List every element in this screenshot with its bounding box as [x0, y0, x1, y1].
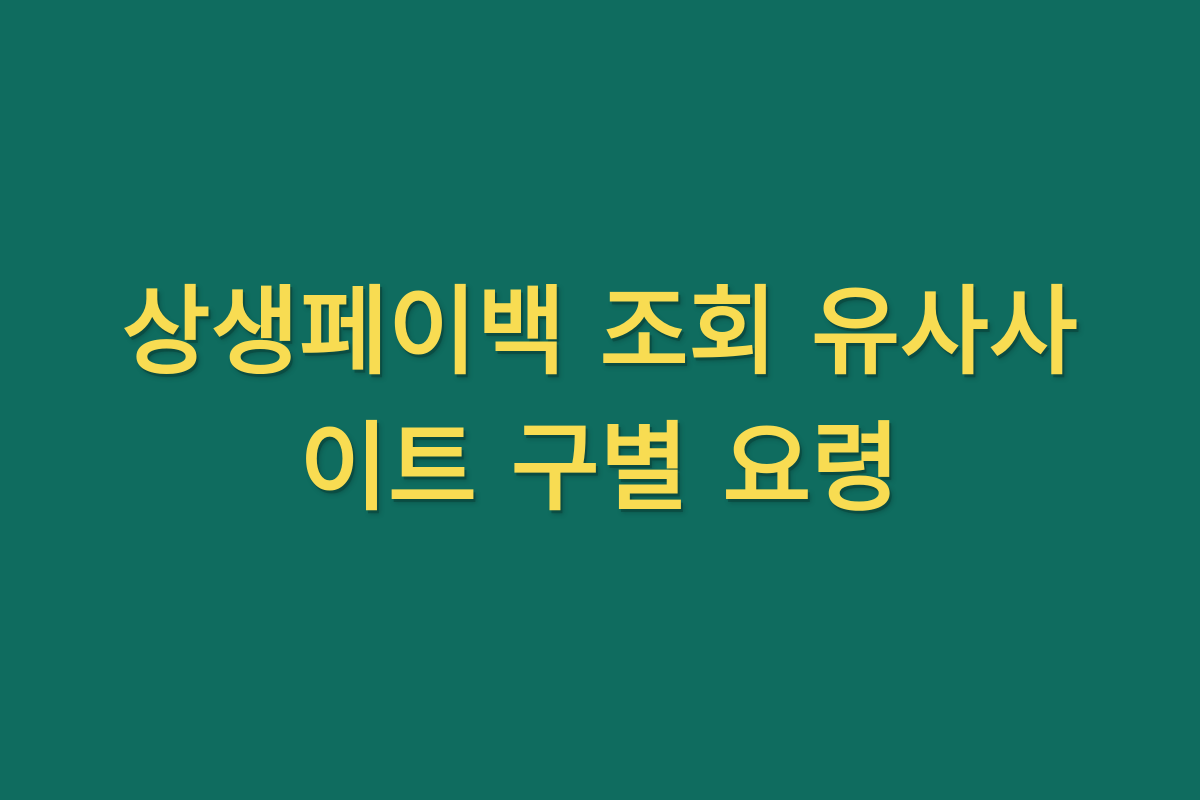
headline-line-2: 이트 구별 요령 — [80, 400, 1120, 536]
headline-line-1: 상생페이백 조회 유사사 — [80, 264, 1120, 400]
banner-canvas: 상생페이백 조회 유사사 이트 구별 요령 — [0, 0, 1200, 800]
banner-headline: 상생페이백 조회 유사사 이트 구별 요령 — [80, 264, 1120, 537]
